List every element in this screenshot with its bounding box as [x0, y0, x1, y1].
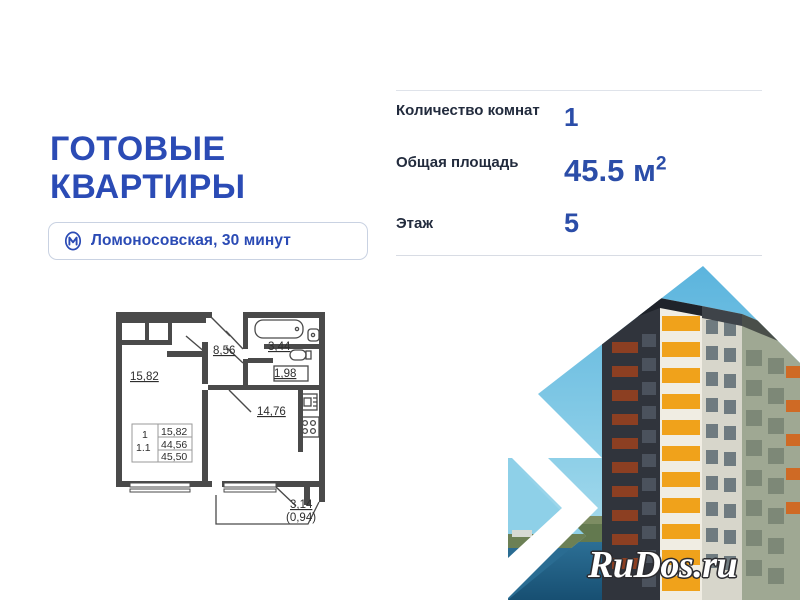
divider-bottom [396, 255, 762, 256]
plan-label-bath: 3,44 [268, 341, 291, 353]
plan-label-hall: 8,56 [213, 345, 235, 357]
metro-m-icon [63, 231, 83, 251]
spec-row-floor: Этаж 5 [396, 199, 762, 255]
plan-table-apartment-no: 1 [142, 429, 148, 441]
advertisement-card: ГОТОВЫЕ КВАРТИРЫ Ломоносовская, 30 минут… [0, 0, 800, 600]
spec-value-floor: 5 [564, 210, 579, 237]
spec-row-area: Общая площадь 45.5 м2 [396, 145, 762, 199]
spec-value-area-superscript: 2 [656, 154, 667, 175]
spec-row-rooms: Количество комнат 1 [396, 91, 762, 145]
page-title: ГОТОВЫЕ КВАРТИРЫ [50, 130, 380, 206]
spec-value-area-number: 45.5 м [564, 153, 656, 188]
spec-value-rooms: 1 [564, 101, 578, 130]
plan-label-wc: 1,98 [274, 368, 296, 380]
spec-label-floor: Этаж [396, 214, 564, 233]
floor-plan[interactable]: 15,82 8,56 3,44 1,98 14,76 3,14 (0,94) 1… [112, 302, 342, 534]
plan-table-living: 15,82 [161, 426, 187, 438]
plan-table-total: 45,50 [161, 451, 187, 463]
metro-station-badge[interactable]: Ломоносовская, 30 минут [48, 222, 368, 260]
apartment-specs-panel: Количество комнат 1 Общая площадь 45.5 м… [396, 90, 762, 256]
page-title-line-1: ГОТОВЫЕ [50, 130, 380, 168]
building-photo[interactable] [490, 258, 800, 600]
floor-plan-drawing: 15,82 8,56 3,44 1,98 14,76 3,14 (0,94) 1… [112, 302, 342, 534]
building-photo-composition [490, 258, 800, 600]
spec-label-area: Общая площадь [396, 153, 564, 172]
plan-table-apartment-type: 1.1 [136, 442, 151, 454]
plan-label-balcony-reduced: (0,94) [286, 512, 316, 524]
plan-label-balcony: 3,14 [290, 499, 313, 511]
plan-label-living: 15,82 [130, 371, 159, 383]
plan-label-kitchen: 14,76 [257, 406, 286, 418]
metro-station-label: Ломоносовская, 30 минут [91, 232, 291, 250]
page-title-line-2: КВАРТИРЫ [50, 168, 380, 206]
spec-label-rooms: Количество комнат [396, 101, 564, 120]
plan-table-usable: 44,56 [161, 439, 187, 451]
spec-value-area: 45.5 м2 [564, 153, 667, 186]
